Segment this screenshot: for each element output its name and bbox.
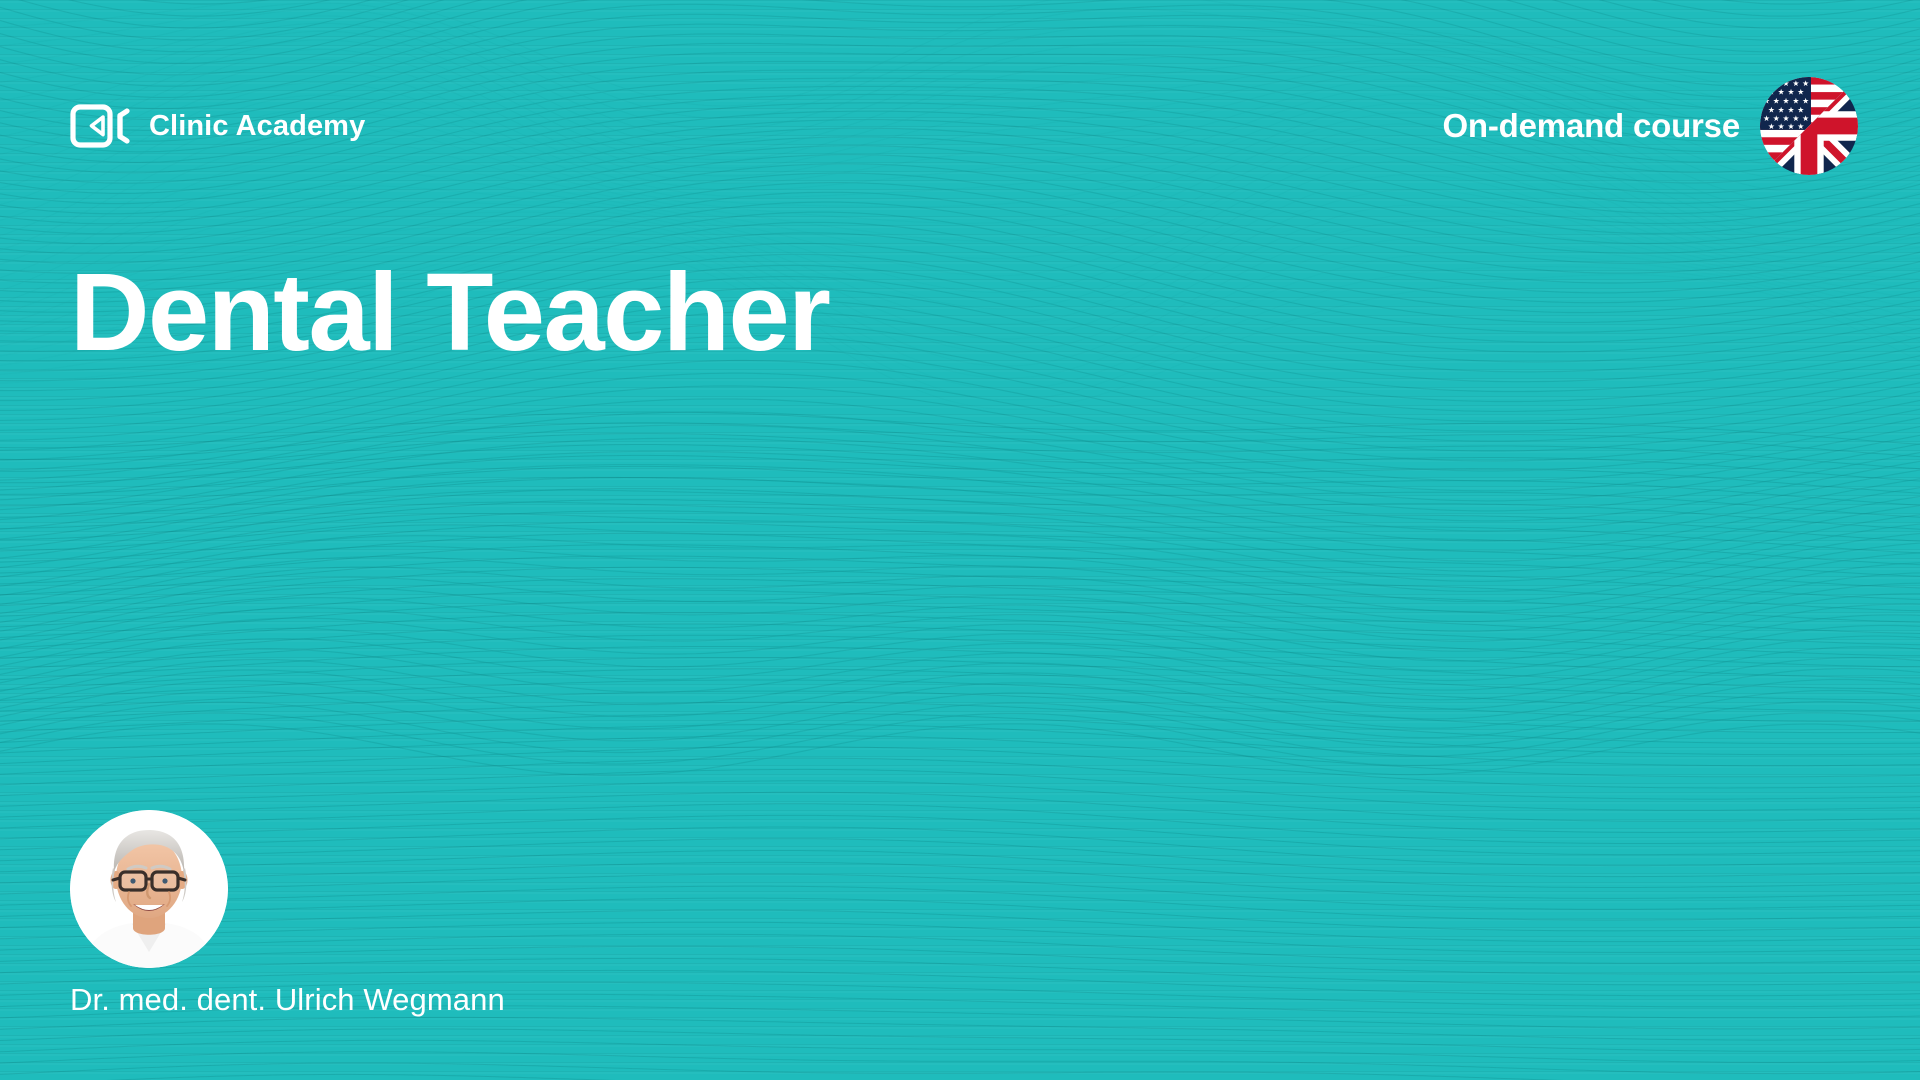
svg-text:★: ★ [1773,96,1780,105]
svg-text:★: ★ [1792,96,1799,105]
svg-text:★: ★ [1768,88,1775,97]
svg-text:★: ★ [1778,122,1785,131]
svg-text:★: ★ [1778,105,1785,114]
svg-text:★: ★ [1783,79,1790,88]
svg-text:★: ★ [1787,105,1794,114]
svg-text:★: ★ [1787,122,1794,131]
course-title: Dental Teacher [70,255,829,372]
presenter-block: Dr. med. dent. Ulrich Wegmann [70,810,505,1018]
header-right-group: On-demand course [1442,77,1858,175]
svg-text:★: ★ [1773,79,1780,88]
brand[interactable]: Clinic Academy [70,103,365,149]
video-camera-icon [70,103,132,149]
presenter-avatar [70,810,228,968]
svg-text:★: ★ [1768,122,1775,131]
svg-text:★: ★ [1802,79,1809,88]
svg-text:★: ★ [1787,88,1794,97]
svg-text:★: ★ [1792,79,1799,88]
svg-text:★: ★ [1768,105,1775,114]
svg-text:★: ★ [1797,105,1804,114]
slide-header: Clinic Academy On-demand course [70,78,1858,174]
svg-text:★: ★ [1802,96,1809,105]
svg-text:★: ★ [1797,88,1804,97]
svg-text:★: ★ [1778,88,1785,97]
svg-text:★: ★ [1763,96,1770,105]
svg-text:★: ★ [1797,122,1804,131]
presenter-name-label: Dr. med. dent. Ulrich Wegmann [70,982,505,1018]
brand-name-label: Clinic Academy [149,110,365,143]
us-uk-flag-icon[interactable]: ★★★ ★★ ★★★ ★ ★★★ ★★ ★★★ ★ ★★★ ★★ ★★★ ★ [1760,77,1858,175]
course-title-slide: Clinic Academy On-demand course [0,0,1920,1080]
course-type-badge: On-demand course [1442,107,1740,145]
svg-text:★: ★ [1783,96,1790,105]
svg-text:★: ★ [1763,79,1770,88]
